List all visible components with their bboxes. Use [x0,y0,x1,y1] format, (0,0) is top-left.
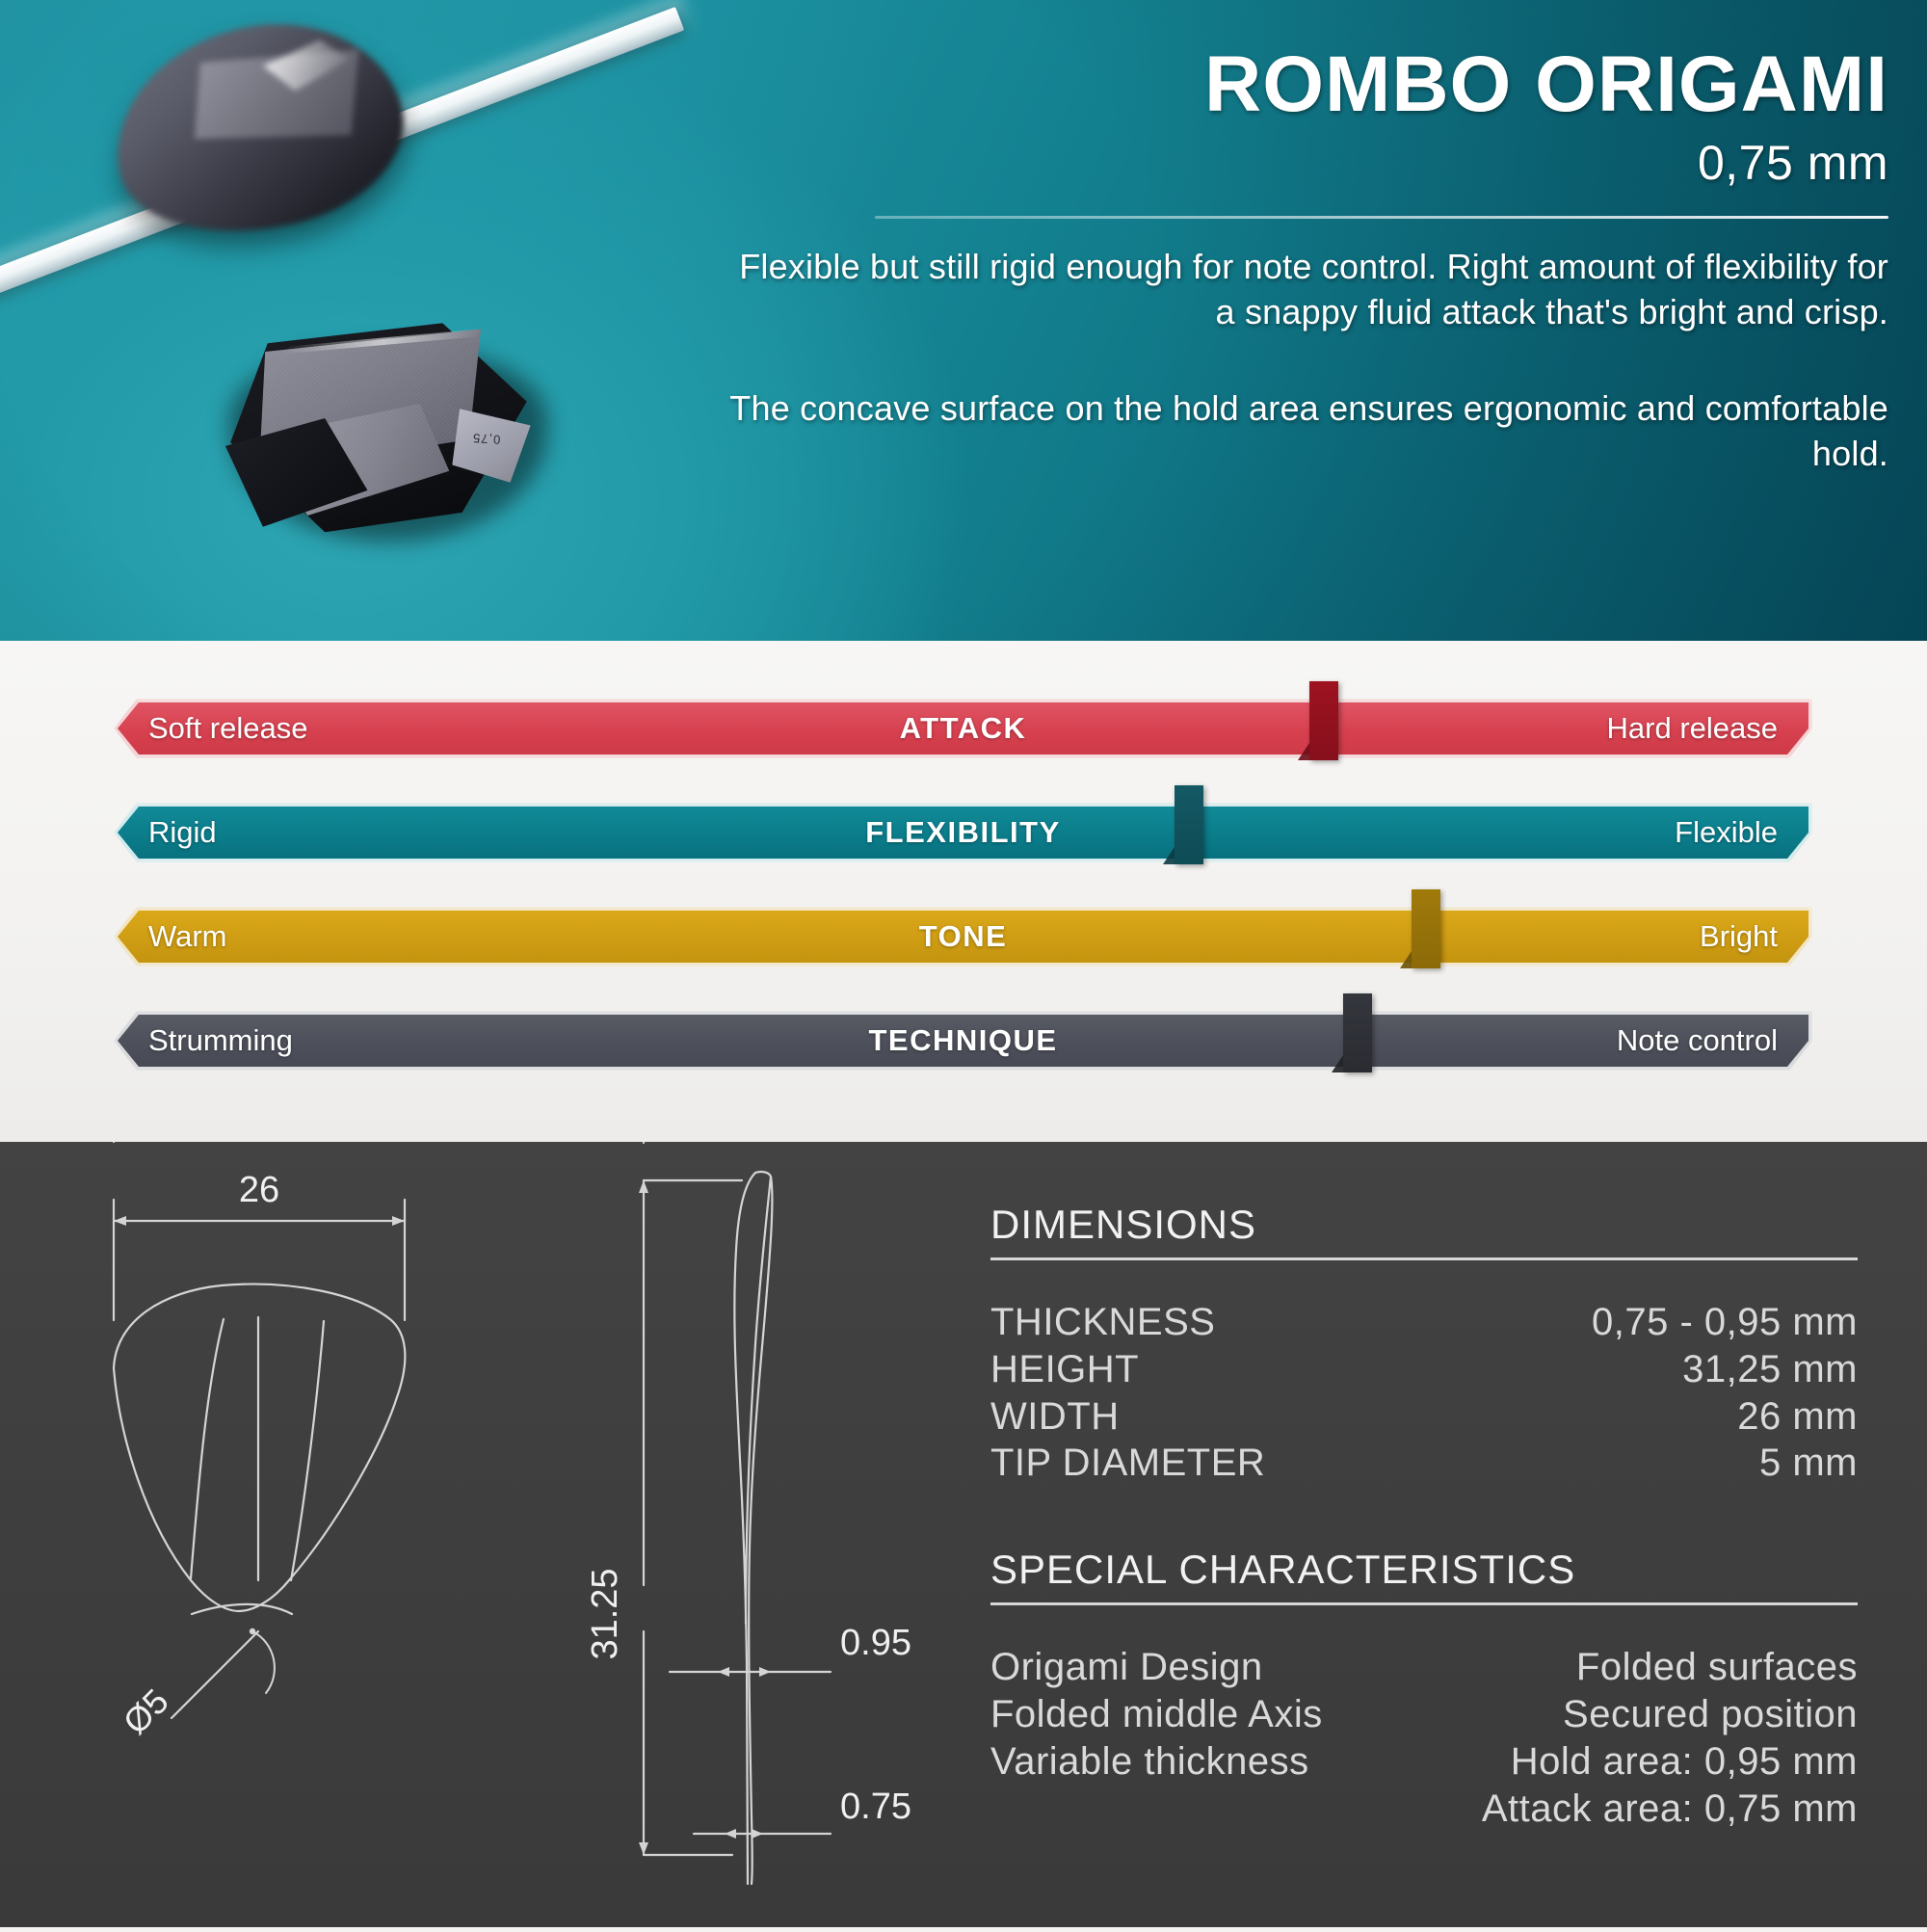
slider-right-label-flexibility: Flexible [1675,815,1778,850]
characteristic-key: Variable thickness [990,1738,1309,1786]
slider-left-label-technique: Strumming [148,1023,293,1058]
table-row: TIP DIAMETER 5 mm [990,1440,1858,1487]
specifications-section: 26 Ø5 31.25 0.95 0.75 DIMENSIONS THICKNE… [0,1142,1927,1927]
table-row: Attack area: 0,75 mm [990,1786,1858,1833]
slider-marker-flexibility[interactable] [1175,785,1203,864]
hero-section: 0,75 ROMBO ORIGAMI 0,75 mm Flexible but … [0,0,1927,641]
product-title: ROMBO ORIGAMI [713,44,1888,125]
fold-line-tip [192,1604,292,1614]
hero-description-2: The concave surface on the hold area ens… [713,385,1888,477]
table-row: Folded middle Axis Secured position [990,1691,1858,1738]
dimension-key: THICKNESS [990,1299,1215,1346]
characteristic-value: Secured position [1563,1691,1858,1738]
attack-thickness-dimension [694,1829,831,1839]
table-row: WIDTH 26 mm [990,1393,1858,1441]
slider-left-label-attack: Soft release [148,711,307,746]
characteristic-value: Folded surfaces [1576,1644,1858,1691]
slider-center-label-technique: TECHNIQUE [868,1023,1057,1058]
slider-marker-technique[interactable] [1343,993,1372,1072]
dimensions-table: THICKNESS 0,75 - 0,95 mm HEIGHT 31,25 mm… [990,1299,1858,1487]
slider-bar-technique[interactable]: Strumming TECHNIQUE Note control [118,1015,1808,1067]
dimension-value: 5 mm [1759,1440,1858,1487]
tip-diameter-callout [172,1628,275,1718]
hero-divider [875,216,1888,219]
infographic-page: 0,75 ROMBO ORIGAMI 0,75 mm Flexible but … [0,0,1927,1927]
characteristic-key: Origami Design [990,1644,1263,1691]
slider-marker-tone[interactable] [1412,889,1440,968]
table-row: Origami Design Folded surfaces [990,1644,1858,1691]
slider-row-attack: Soft release ATTACK Hard release [0,695,1927,799]
table-row: Variable thickness Hold area: 0,95 mm [990,1738,1858,1786]
special-characteristics-table: Origami Design Folded surfaces Folded mi… [990,1644,1858,1832]
table-row: THICKNESS 0,75 - 0,95 mm [990,1299,1858,1346]
height-dimension-label: 31.25 [585,1568,625,1659]
characteristic-value: Attack area: 0,75 mm [1482,1786,1858,1833]
slider-center-label-flexibility: FLEXIBILITY [865,815,1061,850]
slider-bar-tone[interactable]: Warm TONE Bright [118,911,1808,963]
table-row: HEIGHT 31,25 mm [990,1346,1858,1393]
hold-thickness-label: 0.95 [840,1623,911,1663]
slider-bar-attack[interactable]: Soft release ATTACK Hard release [118,702,1808,754]
slider-bar-flexibility[interactable]: Rigid FLEXIBILITY Flexible [118,807,1808,859]
product-thickness: 0,75 mm [713,135,1888,191]
slider-left-label-flexibility: Rigid [148,815,217,850]
characteristics-sliders-section: Soft release ATTACK Hard release Rigid F… [0,641,1927,1142]
slider-left-label-tone: Warm [148,919,227,954]
dimension-key: HEIGHT [990,1346,1139,1393]
pick-profile-side [734,1172,772,1884]
tip-diameter-label: Ø5 [116,1681,176,1742]
height-dimension-line [639,1142,742,1855]
slider-marker-attack[interactable] [1309,681,1338,760]
fold-line-left [191,1319,224,1578]
slider-row-tone: Warm TONE Bright [0,903,1927,1007]
slider-center-label-attack: ATTACK [900,711,1027,746]
pick-outline-front [114,1284,405,1611]
dimension-value: 31,25 mm [1682,1346,1858,1393]
characteristic-value: Hold area: 0,95 mm [1511,1738,1858,1786]
width-dimension-label: 26 [239,1170,279,1210]
slider-right-label-attack: Hard release [1607,711,1778,746]
dimension-key: TIP DIAMETER [990,1440,1265,1487]
dimension-key: WIDTH [990,1393,1120,1441]
specs-text-column: DIMENSIONS THICKNESS 0,75 - 0,95 mm HEIG… [990,1202,1858,1832]
slider-row-flexibility: Rigid FLEXIBILITY Flexible [0,799,1927,903]
attack-thickness-label: 0.75 [840,1786,911,1827]
characteristic-key: Folded middle Axis [990,1691,1323,1738]
slider-row-technique: Strumming TECHNIQUE Note control [0,1007,1927,1111]
dimension-value: 0,75 - 0,95 mm [1592,1299,1858,1346]
technical-drawings: 26 Ø5 31.25 0.95 0.75 [0,1142,963,1927]
slider-right-label-technique: Note control [1617,1023,1778,1058]
slider-center-label-tone: TONE [919,919,1008,954]
dimensions-heading: DIMENSIONS [990,1202,1858,1260]
special-characteristics-heading: SPECIAL CHARACTERISTICS [990,1547,1858,1605]
hero-text-block: ROMBO ORIGAMI 0,75 mm Flexible but still… [713,44,1888,477]
slider-right-label-tone: Bright [1700,919,1778,954]
hero-description-1: Flexible but still rigid enough for note… [713,244,1888,335]
dimension-value: 26 mm [1737,1393,1858,1441]
